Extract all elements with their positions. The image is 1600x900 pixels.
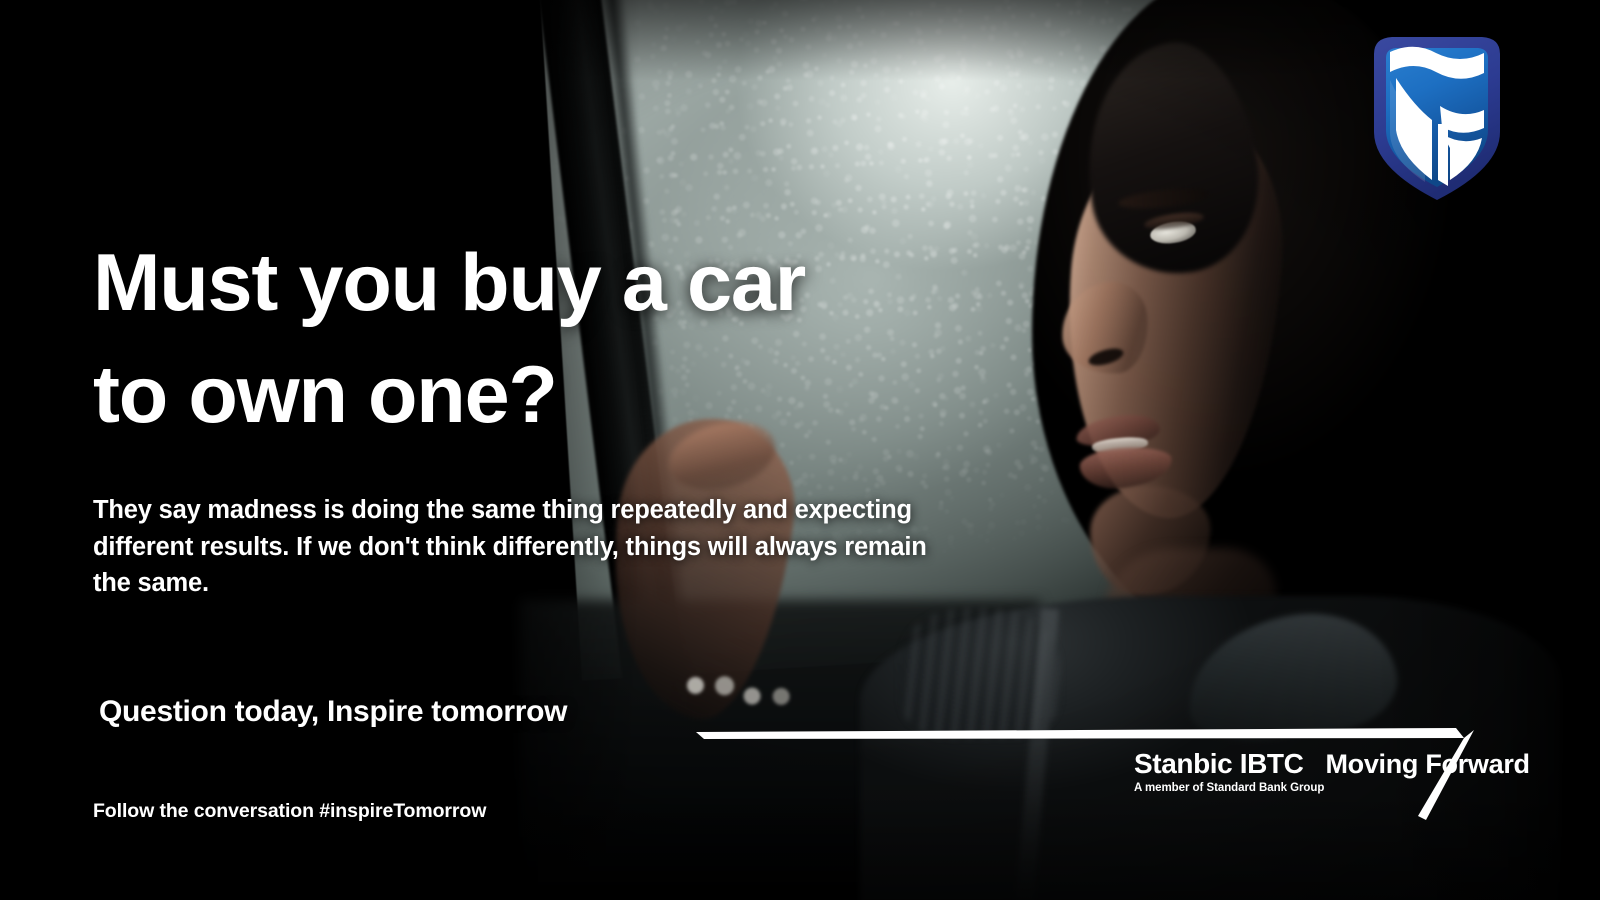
stanbic-ibtc-shield-logo [1362,28,1512,208]
headline: Must you buy a car to own one? [93,228,913,452]
advert-content: Must you buy a car to own one? They say … [0,0,1600,900]
campaign-tagline: Question today, Inspire tomorrow [99,695,567,729]
brand-name: Stanbic IBTC [1134,748,1303,780]
advertisement-banner: Must you buy a car to own one? They say … [0,0,1600,900]
hashtag-line: Follow the conversation #inspireTomorrow [93,800,486,823]
body-copy: They say madness is doing the same thing… [93,492,953,602]
brand-lockup-row: Stanbic IBTC Moving Forward [1134,748,1530,780]
brand-claim: Moving Forward [1325,749,1529,780]
brand-subline: A member of Standard Bank Group [1134,782,1530,794]
brand-lockup: Stanbic IBTC Moving Forward A member of … [1134,748,1530,794]
